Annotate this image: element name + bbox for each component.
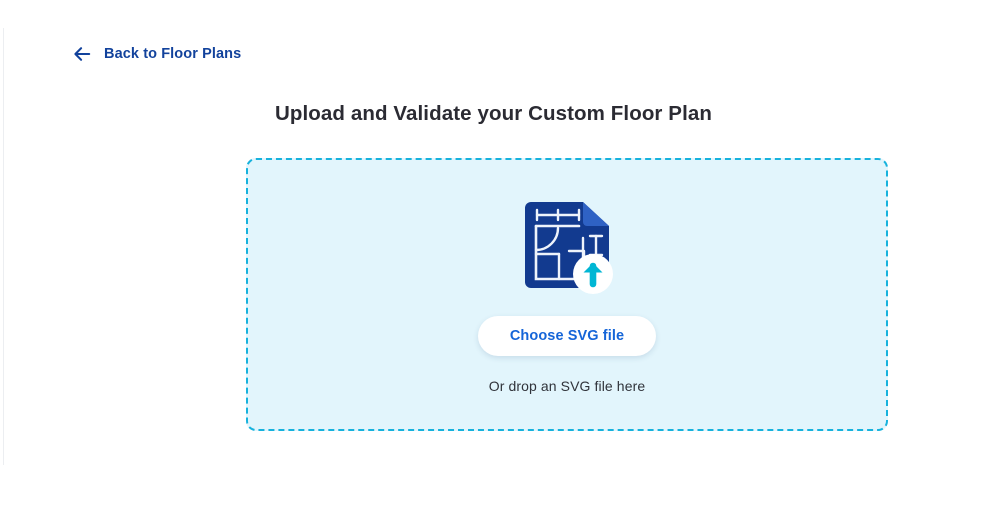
file-dropzone[interactable]: Choose SVG file Or drop an SVG file here [246, 158, 888, 431]
choose-svg-file-button[interactable]: Choose SVG file [478, 316, 656, 356]
page-title: Upload and Validate your Custom Floor Pl… [0, 102, 987, 126]
floorplan-document-upload-icon [517, 198, 617, 298]
drop-hint-text: Or drop an SVG file here [489, 378, 645, 394]
back-to-floor-plans-link[interactable]: Back to Floor Plans [72, 44, 241, 64]
back-link-label: Back to Floor Plans [104, 46, 241, 62]
left-edge-divider [3, 28, 4, 465]
arrow-left-icon [72, 44, 92, 64]
